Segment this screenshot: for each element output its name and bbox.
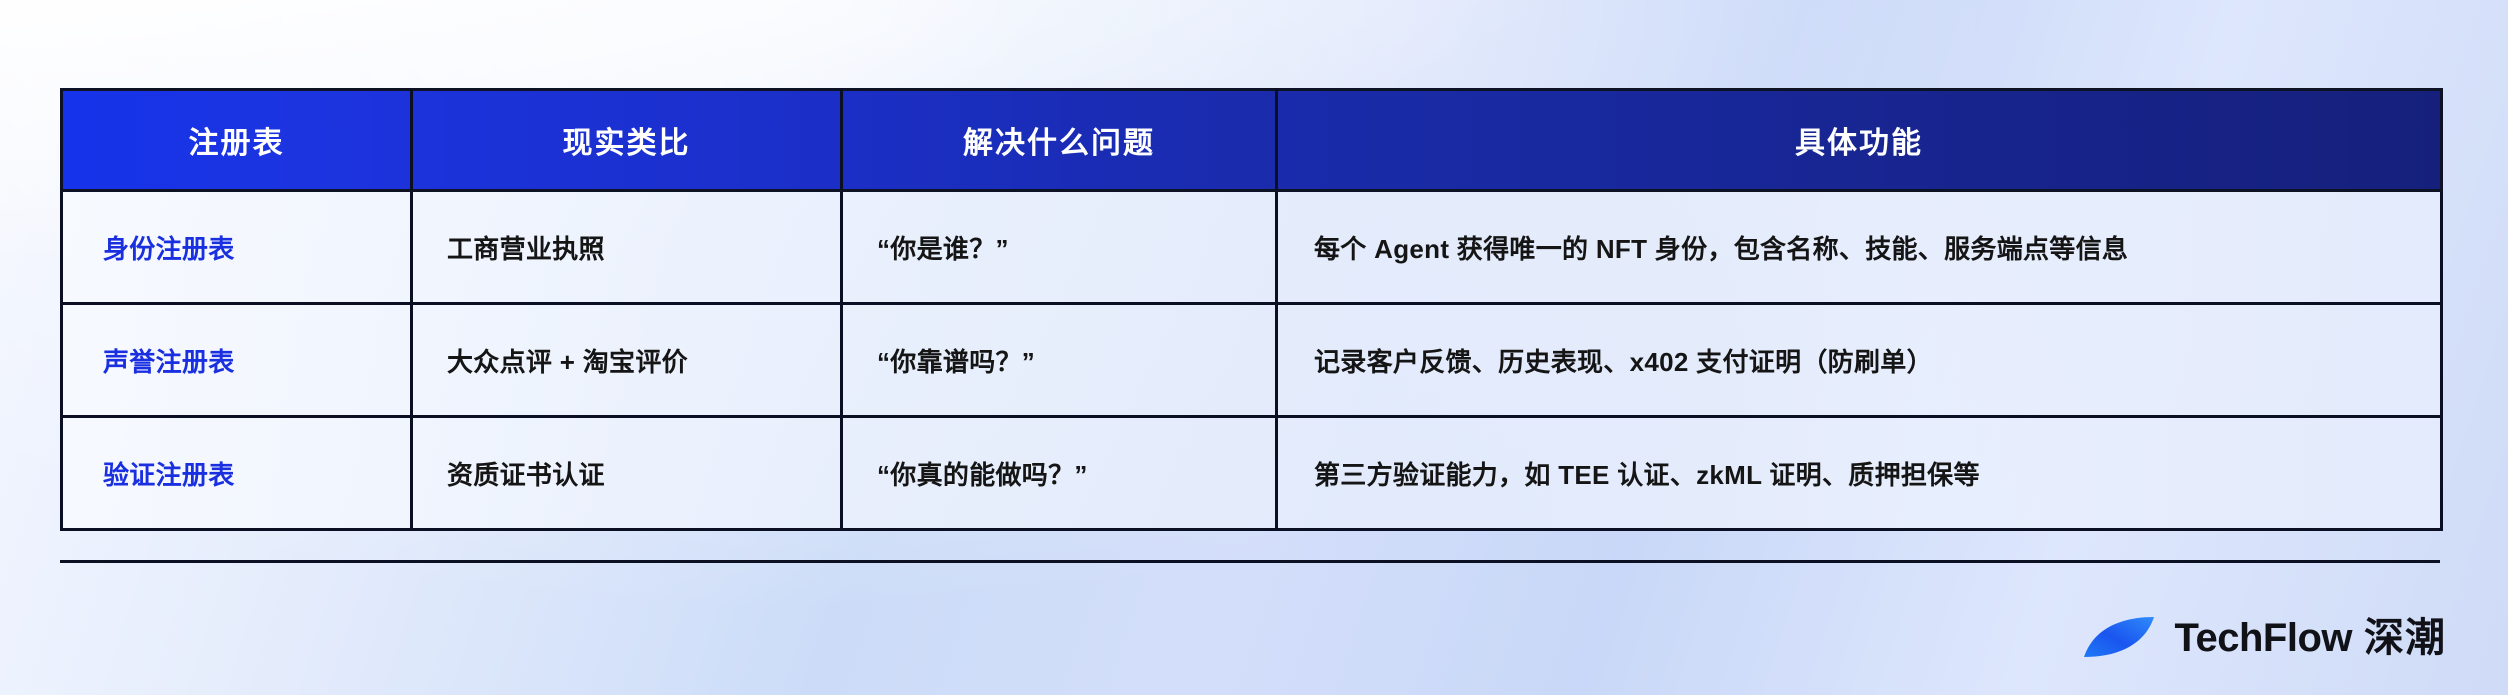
cell-registry-name: 身份注册表 xyxy=(62,191,412,304)
cell-analogy: 资质证书认证 xyxy=(412,417,842,530)
registry-comparison-table: 注册表 现实类比 解决什么问题 具体功能 身份注册表 工商营业执照 “你是谁？”… xyxy=(60,88,2443,531)
brand-name-en: TechFlow xyxy=(2175,616,2352,660)
brand-logo: TechFlow深潮 xyxy=(2083,610,2446,666)
column-header-analogy: 现实类比 xyxy=(412,90,842,191)
table-header: 注册表 现实类比 解决什么问题 具体功能 xyxy=(62,90,2442,191)
cell-analogy: 工商营业执照 xyxy=(412,191,842,304)
table-body: 身份注册表 工商营业执照 “你是谁？” 每个 Agent 获得唯一的 NFT 身… xyxy=(62,191,2442,530)
cell-feature: 记录客户反馈、历史表现、x402 支付证明（防刷单） xyxy=(1277,304,2442,417)
cell-problem: “你真的能做吗？” xyxy=(842,417,1277,530)
table-header-row: 注册表 现实类比 解决什么问题 具体功能 xyxy=(62,90,2442,191)
column-header-registry: 注册表 xyxy=(62,90,412,191)
table-row: 身份注册表 工商营业执照 “你是谁？” 每个 Agent 获得唯一的 NFT 身… xyxy=(62,191,2442,304)
footer-divider xyxy=(60,560,2440,563)
column-header-problem: 解决什么问题 xyxy=(842,90,1277,191)
cell-analogy: 大众点评 + 淘宝评价 xyxy=(412,304,842,417)
brand-name-cn: 深潮 xyxy=(2364,616,2446,660)
techflow-leaf-icon xyxy=(2083,616,2155,660)
poster-canvas: 注册表 现实类比 解决什么问题 具体功能 身份注册表 工商营业执照 “你是谁？”… xyxy=(0,0,2508,695)
table-row: 验证注册表 资质证书认证 “你真的能做吗？” 第三方验证能力，如 TEE 认证、… xyxy=(62,417,2442,530)
cell-problem: “你靠谱吗？” xyxy=(842,304,1277,417)
cell-feature: 第三方验证能力，如 TEE 认证、zkML 证明、质押担保等 xyxy=(1277,417,2442,530)
cell-feature: 每个 Agent 获得唯一的 NFT 身份，包含名称、技能、服务端点等信息 xyxy=(1277,191,2442,304)
brand-name: TechFlow深潮 xyxy=(2175,618,2446,658)
column-header-feature: 具体功能 xyxy=(1277,90,2442,191)
cell-registry-name: 声誉注册表 xyxy=(62,304,412,417)
cell-registry-name: 验证注册表 xyxy=(62,417,412,530)
table-row: 声誉注册表 大众点评 + 淘宝评价 “你靠谱吗？” 记录客户反馈、历史表现、x4… xyxy=(62,304,2442,417)
cell-problem: “你是谁？” xyxy=(842,191,1277,304)
